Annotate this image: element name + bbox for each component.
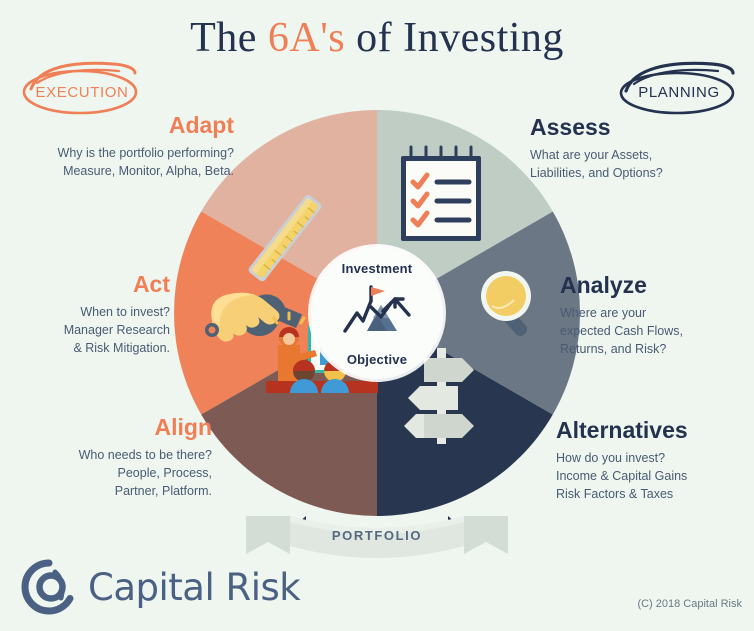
mountain-flag-growth-icon <box>337 281 417 341</box>
section-align-body: Who needs to be there? People, Process, … <box>12 447 212 500</box>
section-act-heading: Act <box>12 272 170 297</box>
section-assess-body: What are your Assets, Liabilities, and O… <box>530 147 745 183</box>
infographic-canvas: The 6A's of Investing EXECUTION PLANNING <box>0 0 754 631</box>
checklist-notepad-icon <box>401 147 481 241</box>
section-analyze[interactable]: Analyze Where are your expected Cash Flo… <box>560 273 750 359</box>
co-monogram-icon <box>18 558 80 616</box>
copyright-notice: (C) 2018 Capital Risk <box>637 598 742 610</box>
section-act[interactable]: Act When to invest? Manager Research & R… <box>12 272 170 358</box>
logo-text: Capital Risk <box>88 566 300 609</box>
section-analyze-heading: Analyze <box>560 273 750 298</box>
section-act-body: When to invest? Manager Research & Risk … <box>12 304 170 357</box>
section-align-heading: Align <box>12 415 212 440</box>
section-alternatives-body: How do you invest? Income & Capital Gain… <box>556 450 752 503</box>
badge-planning: PLANNING <box>604 58 754 118</box>
section-assess-heading: Assess <box>530 115 745 140</box>
badge-execution: EXECUTION <box>7 59 157 119</box>
hub-investment-objective: Investment Objective <box>311 247 443 379</box>
badge-execution-label: EXECUTION <box>7 59 157 119</box>
hub-label-top: Investment <box>311 261 443 276</box>
section-adapt-heading: Adapt <box>12 113 234 138</box>
title-accent: 6A's <box>268 15 345 61</box>
logo-capital-risk[interactable]: Capital Risk <box>18 558 318 620</box>
ribbon-label: PORTFOLIO <box>246 528 508 543</box>
section-alternatives-heading: Alternatives <box>556 418 752 443</box>
hub-label-bottom: Objective <box>311 352 443 367</box>
title-suffix: of Investing <box>345 15 564 61</box>
badge-planning-label: PLANNING <box>604 58 754 118</box>
section-assess[interactable]: Assess What are your Assets, Liabilities… <box>530 115 745 183</box>
section-adapt[interactable]: Adapt Why is the portfolio performing? M… <box>12 113 234 181</box>
page-title: The 6A's of Investing <box>0 14 754 62</box>
title-prefix: The <box>190 15 268 61</box>
section-adapt-body: Why is the portfolio performing? Measure… <box>12 145 234 181</box>
section-align[interactable]: Align Who needs to be there? People, Pro… <box>12 415 212 501</box>
section-alternatives[interactable]: Alternatives How do you invest? Income &… <box>556 418 752 504</box>
section-analyze-body: Where are your expected Cash Flows, Retu… <box>560 305 750 358</box>
